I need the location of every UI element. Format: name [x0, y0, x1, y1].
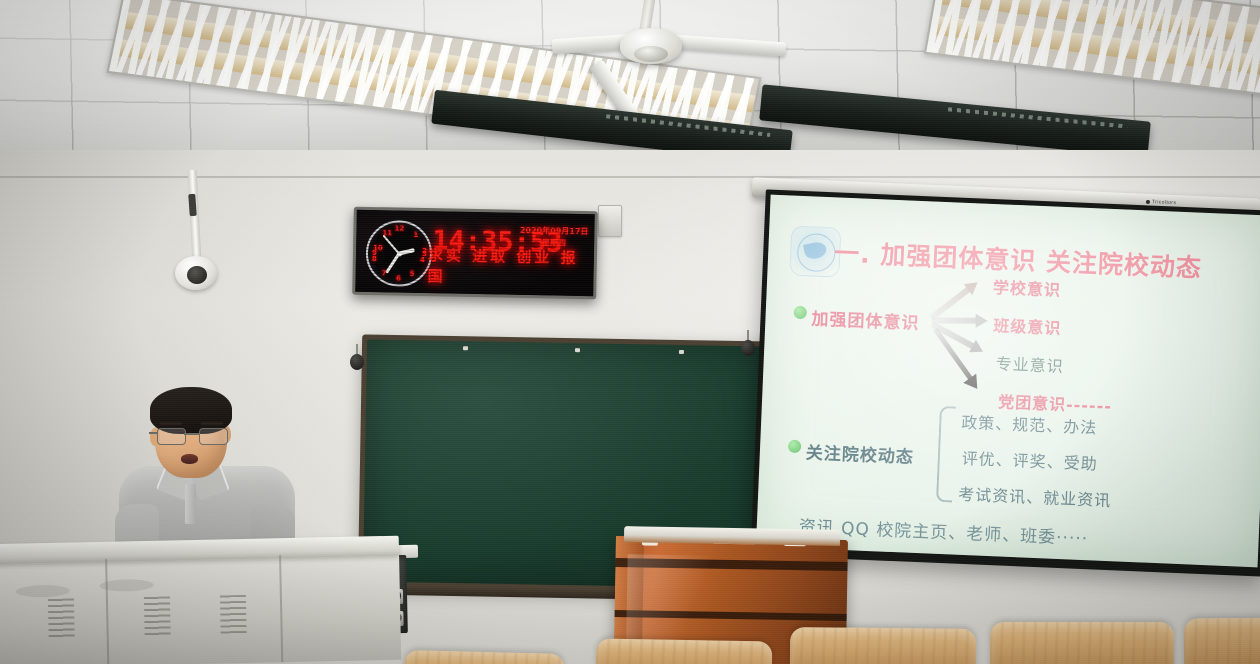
- clock-numeral: 5: [410, 270, 415, 278]
- clock-numeral: 12: [395, 224, 405, 232]
- slide-group2-item: 考试资讯、就业资讯: [958, 481, 1112, 511]
- presenter-hair: [150, 387, 232, 434]
- clock-numeral: 1: [413, 231, 418, 239]
- led-motto-text: 求实 进取 创业 报国: [427, 244, 594, 289]
- student-chair-back[interactable]: [990, 622, 1174, 664]
- bullet-dot-icon: [788, 440, 802, 454]
- teacher-equipment-console[interactable]: [0, 536, 401, 664]
- slide-group1-item: 班级意识: [993, 312, 1062, 339]
- eyeglasses-icon: [155, 428, 229, 444]
- map-hook-icon: [350, 344, 364, 370]
- clock-center-pin: [396, 251, 401, 256]
- bullet-dot-icon: [793, 306, 807, 320]
- student-chair-back[interactable]: [790, 627, 976, 664]
- clock-numeral: 10: [373, 244, 383, 252]
- clock-numeral: 4: [420, 256, 425, 264]
- slide-group1-lead: 加强团体意识: [811, 304, 920, 334]
- slide-group2-item: 评优、评奖、受助: [961, 445, 1098, 475]
- map-hook-icon: [741, 330, 755, 354]
- shirt-placket: [185, 484, 196, 524]
- slide-group2-item: 政策、规范、办法: [961, 409, 1098, 439]
- wall-outlet-box[interactable]: [598, 205, 622, 237]
- classroom-photo: 12 1 2 3 4 5 6 7 8 9 10 11 14:35:53 2020…: [0, 0, 1260, 664]
- slide-group2-lead: 关注院校动态: [805, 438, 914, 468]
- projected-slide: 一. 加强团体意识 关注院校动态 加强团体意识 学校意识 班级意识: [756, 195, 1260, 568]
- slide-group1-item: 学校意识: [993, 274, 1062, 301]
- brand-dot-icon: [1146, 200, 1150, 204]
- presenter-mouth: [181, 454, 198, 464]
- clock-numeral: 6: [396, 274, 401, 282]
- slide-group1-item: 专业意识: [995, 350, 1064, 377]
- student-chair-back[interactable]: [596, 638, 773, 664]
- wall-speaker-icon: [168, 170, 228, 290]
- student-chair-back[interactable]: [1184, 617, 1260, 664]
- led-date-line: 2020年09月17日: [520, 225, 589, 238]
- ceiling-fan-icon: [556, 0, 786, 104]
- arrow-up-icon: [930, 280, 976, 315]
- led-clock-display: 12 1 2 3 4 5 6 7 8 9 10 11 14:35:53 2020…: [352, 207, 598, 300]
- curly-brace-icon: [936, 406, 956, 503]
- projection-screen-frame: 一. 加强团体意识 关注院校动态 加强团体意识 学校意识 班级意识: [751, 189, 1260, 576]
